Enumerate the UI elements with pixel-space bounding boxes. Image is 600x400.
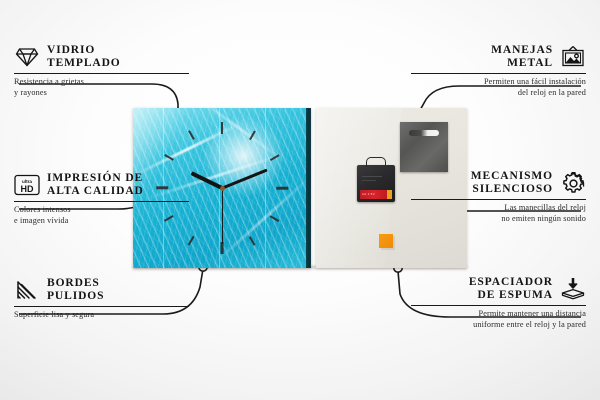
callout-description: Superficie lisa y segura	[14, 310, 189, 320]
callout-header: MANEJAS METAL	[411, 44, 586, 70]
ultra-hd-icon: ultra HD	[14, 172, 40, 198]
svg-text:HD: HD	[21, 184, 34, 194]
callout-description: Resistencia a grietas y rayones	[14, 77, 189, 97]
callout-glass: VIDRIO TEMPLADO Resistencia a grietas y …	[14, 44, 189, 98]
callout-title: VIDRIO TEMPLADO	[47, 44, 121, 70]
battery-terminal	[387, 190, 392, 199]
callout-description: Permite mantener una distancia uniforme …	[411, 309, 586, 329]
metal-hanger-plate	[400, 122, 448, 172]
clock-tick	[276, 187, 288, 190]
foam-spacer-icon	[560, 276, 586, 302]
clock-hub	[220, 186, 225, 191]
callout-divider	[14, 306, 189, 307]
callout-divider	[411, 305, 586, 306]
callout-header: ESPACIADOR DE ESPUMA	[411, 276, 586, 302]
callout-divider	[411, 73, 586, 74]
glass-seam	[265, 108, 266, 268]
infographic-scene: AA 1.5V VIDRIO TEMPLADO Resistencia a	[0, 0, 600, 400]
gear-icon	[560, 170, 586, 196]
callout-description: Colores intensos e imagen vívida	[14, 205, 189, 225]
battery: AA 1.5V	[360, 190, 392, 199]
callout-title: MANEJAS METAL	[491, 44, 553, 70]
clock-tick	[221, 122, 224, 134]
callout-description: Las manecillas del reloj no emiten ningú…	[411, 203, 586, 223]
callout-divider	[411, 199, 586, 200]
clock-second-hand	[222, 188, 223, 244]
glass-edge	[306, 108, 311, 268]
hanger-keyhole-slot	[409, 130, 439, 136]
movement-seam	[362, 176, 382, 177]
callout-title: BORDES PULIDOS	[47, 277, 104, 303]
callout-divider	[14, 73, 189, 74]
battery-label: AA 1.5V	[362, 192, 375, 196]
callout-hangers: MANEJAS METAL Permiten una fácil instala…	[411, 44, 586, 98]
callout-header: ultra HD IMPRESIÓN DE ALTA CALIDAD	[14, 172, 189, 198]
polished-edges-icon	[14, 277, 40, 303]
callout-title: MECANISMO SILENCIOSO	[471, 170, 553, 196]
callout-title: ESPACIADOR DE ESPUMA	[469, 276, 553, 302]
movement-hanger-loop	[366, 157, 386, 167]
callout-title: IMPRESIÓN DE ALTA CALIDAD	[47, 172, 144, 198]
diamond-icon	[14, 44, 40, 70]
callout-edges: BORDES PULIDOS Superficie lisa y segura	[14, 277, 189, 321]
callout-header: BORDES PULIDOS	[14, 277, 189, 303]
callout-header: VIDRIO TEMPLADO	[14, 44, 189, 70]
callout-mechanism: MECANISMO SILENCIOSO Las manecillas del …	[411, 170, 586, 224]
callout-divider	[14, 201, 189, 202]
clock-movement-box: AA 1.5V	[357, 165, 395, 202]
callout-description: Permiten una fácil instalación del reloj…	[411, 77, 586, 97]
callout-header: MECANISMO SILENCIOSO	[411, 170, 586, 196]
callout-print: ultra HD IMPRESIÓN DE ALTA CALIDAD Color…	[14, 172, 189, 226]
foam-spacer	[379, 234, 393, 248]
callout-foam-spacer: ESPACIADOR DE ESPUMA Permite mantener un…	[411, 276, 586, 330]
movement-seam	[362, 180, 376, 181]
picture-hanger-icon	[560, 44, 586, 70]
